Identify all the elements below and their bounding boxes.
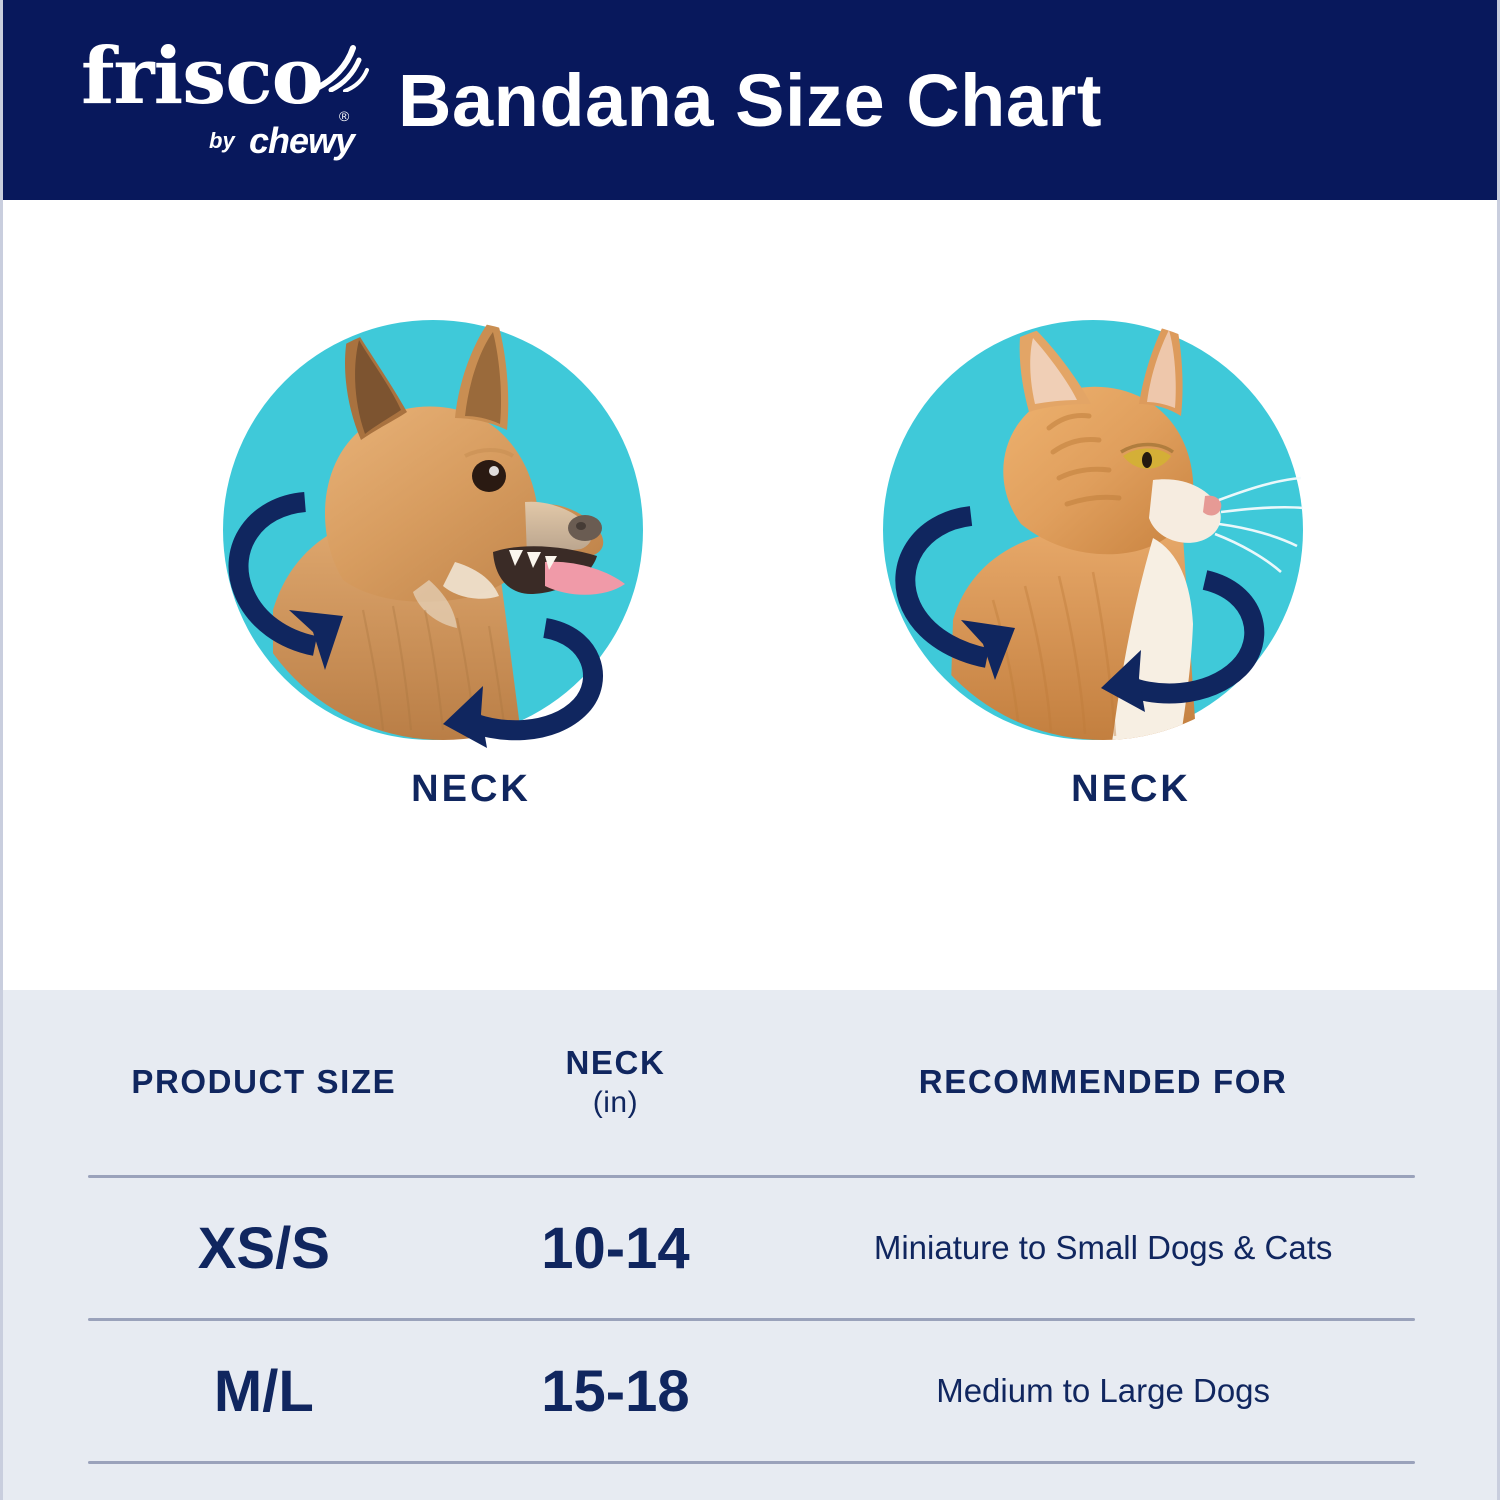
brand-by-label: by [209,128,235,154]
column-header-neck: NECK (in) [440,1042,792,1123]
cat-measure-label: NECK [901,768,1361,811]
logo-swoosh-icon [313,44,371,92]
cell-product-size: XS/S [88,1215,440,1282]
frisco-logo: frisco ® by chewy [81,36,381,164]
cell-recommended-for-value: Medium to Large Dogs [936,1372,1270,1409]
size-chart-page: frisco ® by chewy Bandana Size Chart [0,0,1500,1500]
illustration-section: NECK [3,200,1497,990]
brand-parent-wordmark: chewy [249,120,354,162]
size-chart-table: PRODUCT SIZE NECK (in) RECOMMENDED FOR X… [3,990,1497,1500]
cat-photo-illustration [853,280,1313,750]
table-row: XS/S 10-14 Miniature to Small Dogs & Cat… [88,1178,1415,1318]
dog-illustration-panel: NECK [193,320,653,880]
cell-recommended-for: Miniature to Small Dogs & Cats [791,1226,1415,1270]
cell-recommended-for-value: Miniature to Small Dogs & Cats [874,1229,1333,1266]
table-row: M/L 15-18 Medium to Large Dogs [88,1321,1415,1461]
column-header-product-size: PRODUCT SIZE [88,1061,440,1103]
cell-neck: 15-18 [440,1358,792,1425]
cell-neck-value: 10-14 [541,1216,689,1281]
column-header-product-size-label: PRODUCT SIZE [131,1063,396,1100]
column-header-neck-unit: (in) [440,1084,792,1122]
column-header-recommended-for: RECOMMENDED FOR [791,1061,1415,1103]
cell-product-size-value: XS/S [198,1216,330,1281]
cell-neck-value: 15-18 [541,1359,689,1424]
column-header-recommended-for-label: RECOMMENDED FOR [919,1063,1288,1100]
cell-product-size: M/L [88,1358,440,1425]
table-header-row: PRODUCT SIZE NECK (in) RECOMMENDED FOR [88,990,1415,1175]
row-divider [88,1461,1415,1464]
cell-recommended-for: Medium to Large Dogs [791,1369,1415,1413]
cell-neck: 10-14 [440,1215,792,1282]
dog-measure-label: NECK [241,768,701,811]
dog-photo-illustration [193,280,653,750]
column-header-neck-label: NECK [566,1044,666,1081]
cat-illustration-panel: NECK [853,320,1313,880]
brand-wordmark: frisco [81,38,323,116]
header-bar: frisco ® by chewy Bandana Size Chart [3,0,1497,200]
cell-product-size-value: M/L [214,1359,314,1424]
